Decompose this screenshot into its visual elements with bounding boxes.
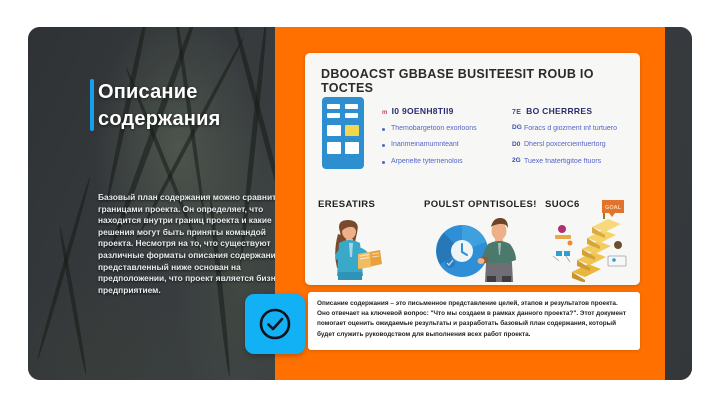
list-item: 2G Tuexe fnatertigitoe ftuors xyxy=(512,157,634,166)
woman-with-book-illustration xyxy=(320,218,390,280)
check-circle-icon xyxy=(258,307,292,341)
list-item-number: D0 xyxy=(512,141,524,148)
list-item-label: Themobargetoon exorloons xyxy=(391,124,477,133)
list-item: Themobargetoon exorloons xyxy=(382,124,494,133)
list-item-label: Dhersl poxcercieinfuertorg xyxy=(524,140,606,149)
list-item: Inanmeinamumnteant xyxy=(382,140,494,149)
bullet-column-1-heading: mI0 9OENH8TII9 xyxy=(382,106,494,116)
tablet-checklist-icon xyxy=(322,97,364,169)
caption-box: Описание содержания – это письменное пре… xyxy=(308,292,640,350)
list-item-label: Arperielte tyternenolois xyxy=(391,157,463,166)
caption-text: Описание содержания – это письменное пре… xyxy=(308,292,640,340)
card-title: DBOOACST GBBASE BUSITEESIT ROUB IO TOCTE… xyxy=(321,67,640,95)
page-title-line-1: Описание xyxy=(98,79,298,106)
bullet-column-1-title: I0 9OENH8TII9 xyxy=(392,106,454,116)
bullet-dot-icon xyxy=(382,128,385,131)
bullet-column-1: mI0 9OENH8TII9 Themobargetoon exorloons … xyxy=(382,106,494,166)
goal-flag-label: GOAL xyxy=(605,205,622,211)
list-item-label: Tuexe fnatertigitoe ftuors xyxy=(524,157,601,166)
page-title: Описание содержания xyxy=(98,79,298,133)
list-item-label: Inanmeinamumnteant xyxy=(391,140,459,149)
goal-flag-icon: GOAL xyxy=(602,200,624,217)
list-item: Arperielte tyternenolois xyxy=(382,157,494,166)
bullet-column-2: 7EBO CHERRRES DG Foracs d giozment inf t… xyxy=(512,106,634,166)
title-accent-bar xyxy=(90,79,94,131)
list-item-number: 2G xyxy=(512,157,524,164)
bullet-dot-icon xyxy=(382,144,385,147)
bullet-column-2-heading: 7EBO CHERRRES xyxy=(512,106,634,116)
bullet-column-2-title: BO CHERRRES xyxy=(526,106,592,116)
section-heading-1: ERESATIRS xyxy=(318,199,375,210)
bullet-column-2-prefix: 7E xyxy=(512,109,521,116)
slide-canvas: Описание содержания Базовый план содержа… xyxy=(0,0,724,407)
stairs-to-goal-illustration: GOAL xyxy=(548,198,634,282)
section-heading-2: POULST OPNTISOLES! xyxy=(424,199,537,210)
check-badge[interactable] xyxy=(245,294,305,354)
bullet-column-1-prefix: m xyxy=(382,110,388,116)
list-item: D0 Dhersl poxcercieinfuertorg xyxy=(512,140,634,149)
pie-chart-with-man-illustration xyxy=(432,216,524,282)
list-item-number: DG xyxy=(512,124,524,131)
bullet-dot-icon xyxy=(382,161,385,164)
page-title-line-2: содержания xyxy=(98,106,298,133)
list-item: DG Foracs d giozment inf turtuero xyxy=(512,124,634,133)
list-item-label: Foracs d giozment inf turtuero xyxy=(524,124,617,133)
slide-body-text: Базовый план содержания можно сравнить с… xyxy=(98,192,294,296)
